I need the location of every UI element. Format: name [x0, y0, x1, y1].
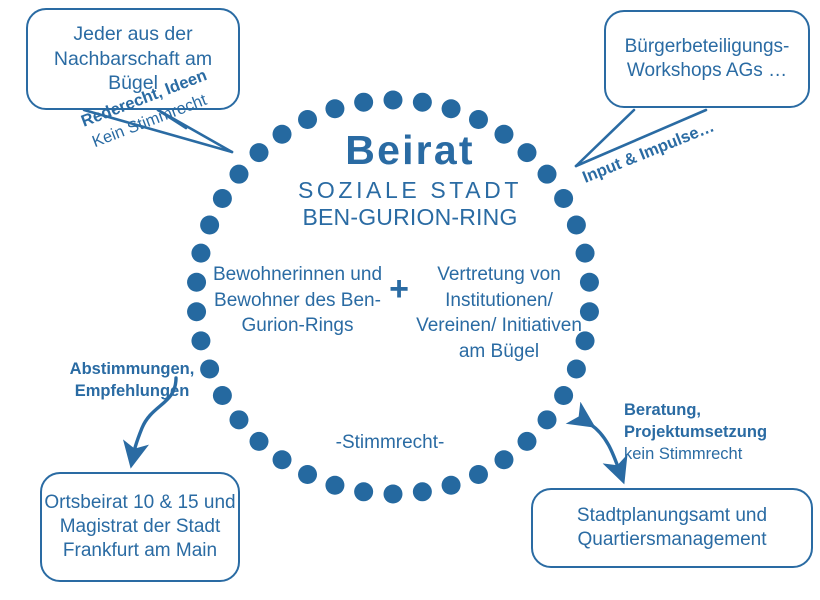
plus-icon: +: [382, 272, 416, 306]
diagram-subtitle-location: BEN-GURION-RING: [0, 204, 820, 231]
voting-rights-note: -Stimmrecht-: [290, 432, 490, 454]
diagram-subtitle-program: SOZIALE STADT: [0, 177, 820, 204]
arrow-beratung: [590, 424, 622, 478]
label-beratung-line3: kein Stimmrecht: [624, 444, 804, 466]
label-abstimmungen: Abstimmungen, Empfehlungen: [42, 358, 222, 402]
label-beratung-line1: Beratung,: [624, 400, 804, 422]
label-beratung: Beratung, Projektumsetzung kein Stimmrec…: [624, 400, 804, 465]
box-ortsbeirat[interactable]: Ortsbeirat 10 & 15 und Magistrat der Sta…: [40, 472, 240, 582]
member-group-residents: Bewohnerinnen und Bewohner des Ben-Gurio…: [205, 262, 390, 339]
box-stadtplanung[interactable]: Stadtplanungsamt und Quartiersmanagement: [531, 488, 813, 568]
bubble-workshops[interactable]: Bürgerbeteiligungs- Workshops AGs …: [604, 10, 810, 108]
member-group-institutions: Vertretung von Institutionen/ Vereinen/ …: [414, 262, 584, 365]
label-beratung-line2: Projektumsetzung: [624, 422, 804, 444]
diagram-canvas: Jeder aus der Nachbarschaft am Bügel Bür…: [0, 0, 820, 600]
